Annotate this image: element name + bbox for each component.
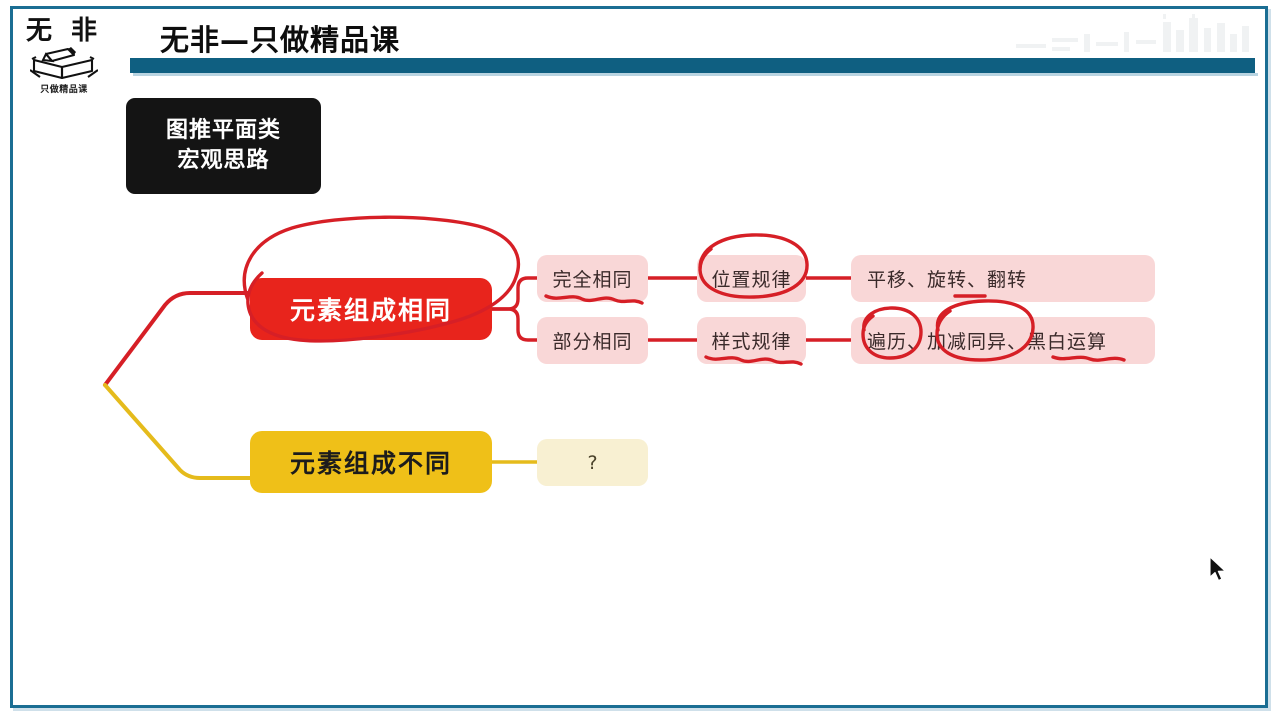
node-position-rule[interactable]: 位置规律 bbox=[697, 255, 806, 302]
node-partly-same-label: 部分相同 bbox=[552, 327, 632, 354]
slide-canvas: 无 非 只做精品课 无非—只做精品课 bbox=[0, 0, 1280, 720]
topic-title-chip: 图推平面类 宏观思路 bbox=[126, 98, 321, 194]
topic-title-line1: 图推平面类 bbox=[166, 116, 281, 146]
node-different-elements[interactable]: 元素组成不同 bbox=[250, 431, 492, 493]
header-divider-bar bbox=[130, 58, 1255, 73]
topic-title-line2: 宏观思路 bbox=[177, 146, 269, 176]
brand-logo: 无 非 只做精品课 bbox=[18, 18, 110, 95]
node-position-rule-detail[interactable]: 平移、旋转、翻转 bbox=[851, 255, 1155, 302]
node-style-rule-detail-label: 遍历、加减同异、黑白运算 bbox=[867, 327, 1107, 354]
node-position-rule-detail-label: 平移、旋转、翻转 bbox=[867, 265, 1027, 292]
node-same-elements[interactable]: 元素组成相同 bbox=[250, 278, 492, 340]
node-same-elements-label: 元素组成相同 bbox=[290, 291, 452, 327]
page-title: 无非—只做精品课 bbox=[160, 17, 400, 59]
logo-tagline: 只做精品课 bbox=[18, 82, 110, 95]
open-book-with-pen-icon bbox=[18, 47, 110, 81]
node-completely-same-label: 完全相同 bbox=[552, 265, 632, 292]
node-position-rule-label: 位置规律 bbox=[711, 265, 791, 292]
node-style-rule[interactable]: 样式规律 bbox=[697, 317, 806, 364]
node-style-rule-label: 样式规律 bbox=[711, 327, 791, 354]
bilibili-watermark-icon bbox=[1008, 14, 1258, 64]
node-style-rule-detail[interactable]: 遍历、加减同异、黑白运算 bbox=[851, 317, 1155, 364]
node-partly-same[interactable]: 部分相同 bbox=[537, 317, 648, 364]
mouse-pointer-icon bbox=[1208, 556, 1228, 588]
node-question-placeholder-label: ? bbox=[587, 452, 597, 474]
node-question-placeholder[interactable]: ? bbox=[537, 439, 648, 486]
logo-wordmark: 无 非 bbox=[18, 18, 110, 44]
node-different-elements-label: 元素组成不同 bbox=[290, 444, 452, 480]
node-completely-same[interactable]: 完全相同 bbox=[537, 255, 648, 302]
